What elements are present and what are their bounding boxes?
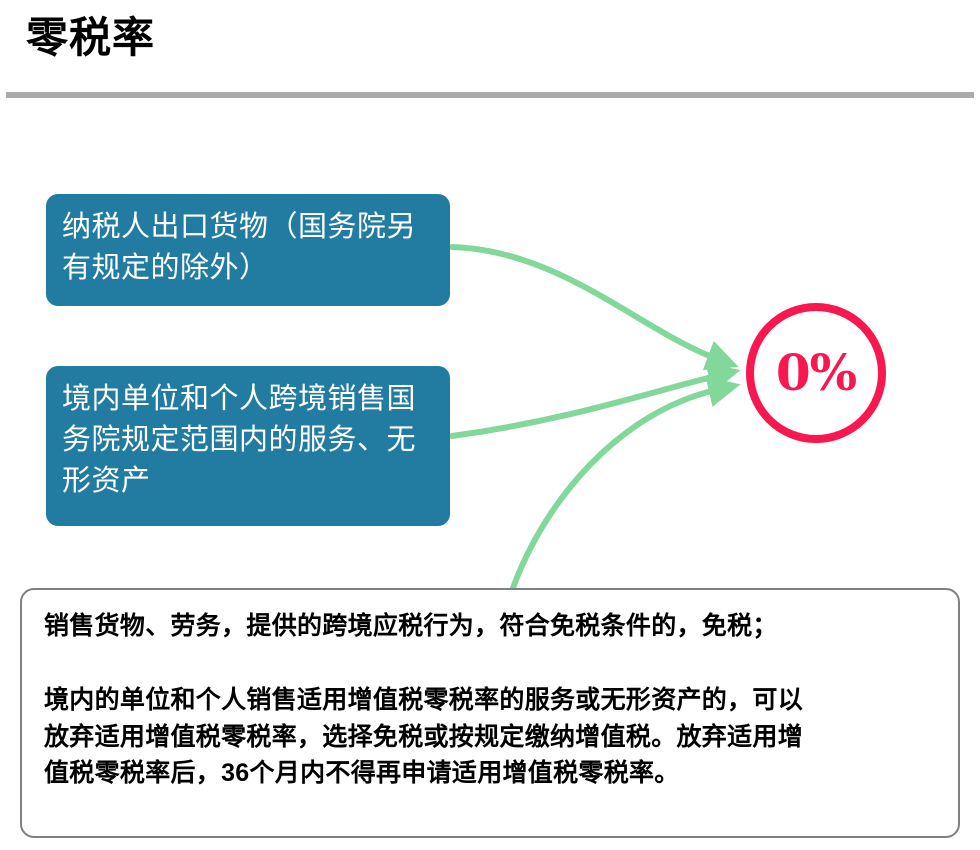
slide-canvas: 零税率 纳税人出口货物（国务院另有规定的除外） 境内单位和个人跨境销售国务院规定… [0,0,980,850]
zero-rate-circle: 0% [746,303,886,443]
note-paragraph2-line3: 值税零税率后，36个月内不得再申请适用增值税零税率。 [44,755,936,791]
note-paragraph2-line1: 境内的单位和个人销售适用增值税零税率的服务或无形资产的，可以 [44,682,936,718]
page-title: 零税率 [26,14,155,62]
title-divider [6,92,974,98]
note-paragraph-spacer [44,644,936,682]
arrow-note-to-zero [513,390,716,588]
arrow-services-to-zero [452,376,716,436]
note-paragraph1-line1: 销售货物、劳务，提供的跨境应税行为，符合免税条件的，免税； [44,608,936,644]
zero-rate-value: 0% [776,348,856,398]
callout-box-cross-border-services[interactable]: 境内单位和个人跨境销售国务院规定范围内的服务、无形资产 [46,366,450,526]
note-panel: 销售货物、劳务，提供的跨境应税行为，符合免税条件的，免税； 境内的单位和个人销售… [20,588,960,838]
note-paragraph2-line2: 放弃适用增值税零税率，选择免税或按规定缴纳增值税。放弃适用增 [44,719,936,755]
callout-box-export-goods[interactable]: 纳税人出口货物（国务院另有规定的除外） [46,194,450,306]
arrow-export-to-zero [452,247,715,358]
